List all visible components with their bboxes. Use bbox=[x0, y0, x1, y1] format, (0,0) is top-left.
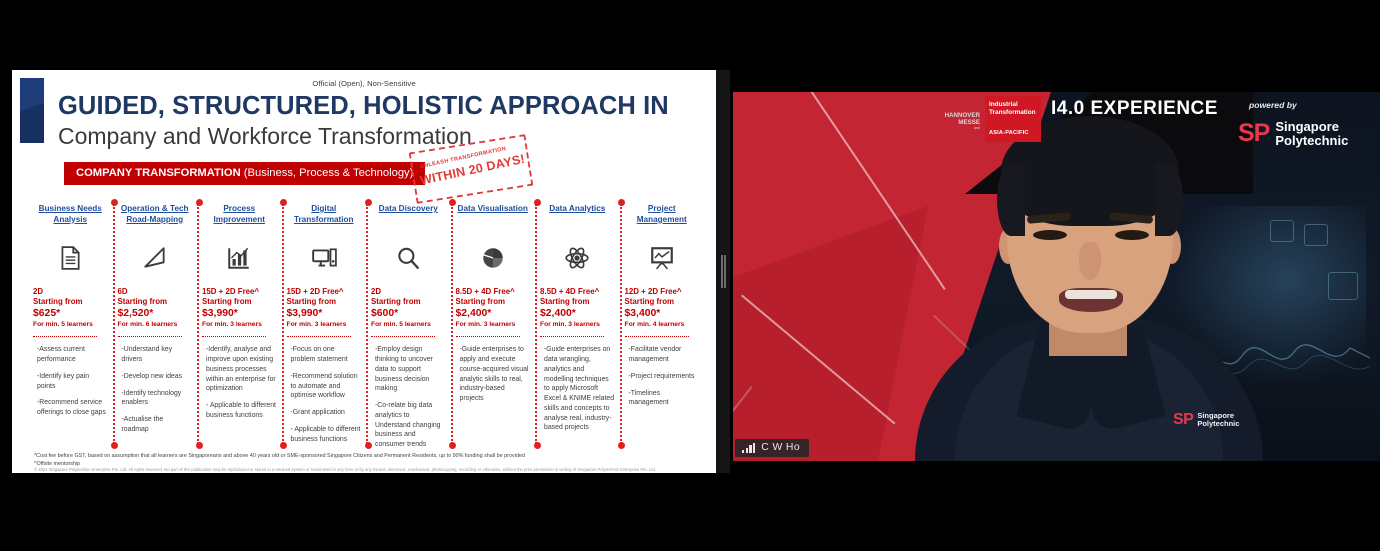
list-item: -Identify technology enablers bbox=[118, 389, 193, 409]
bar-chart-icon bbox=[202, 237, 277, 279]
classification-label: Official (Open), Non-Sensitive bbox=[12, 79, 716, 88]
hannover-tiny: and bbox=[918, 126, 980, 130]
column-min-learners: For min. 3 learners bbox=[202, 321, 277, 330]
service-column: Operation & Tech Road-Mapping 6D Startin… bbox=[113, 204, 198, 444]
list-item: - Applicable to different business funct… bbox=[202, 401, 277, 421]
decor-hex-icon bbox=[1328, 272, 1358, 300]
column-price: $3,990* bbox=[202, 307, 277, 320]
sp-chest-name: Singapore Polytechnic bbox=[1197, 412, 1239, 429]
list-item: -Identify key pain points bbox=[33, 372, 108, 392]
pie-chart-icon bbox=[456, 237, 531, 279]
column-bullets: -Facilitate vendor management-Project re… bbox=[625, 345, 700, 408]
itap-region: ASIA-PACIFIC bbox=[989, 130, 1029, 137]
banner-regular-text: (Business, Process & Technology) bbox=[241, 167, 414, 179]
sp-mark: SP bbox=[1238, 119, 1269, 148]
column-price: $2,520* bbox=[118, 307, 193, 320]
column-starting-from: Starting from bbox=[202, 297, 277, 307]
person-nose bbox=[1079, 242, 1101, 280]
itap-line-2: Transformation bbox=[989, 109, 1037, 117]
column-divider bbox=[456, 336, 520, 337]
column-heading: Process Improvement bbox=[202, 204, 277, 228]
list-item: -Employ design thinking to uncover data … bbox=[371, 345, 446, 394]
rail-dot-bottom bbox=[280, 442, 287, 449]
video-participant-tile[interactable]: HANNOVER MESSE and Industrial Transforma… bbox=[733, 86, 1380, 461]
sp-name: Singapore Polytechnic bbox=[1275, 120, 1348, 147]
participant-name-badge: C W Ho bbox=[735, 439, 809, 457]
service-column: Business Needs Analysis 2D Starting from… bbox=[28, 204, 113, 444]
column-starting-from: Starting from bbox=[118, 297, 193, 307]
column-pricing: 8.5D + 4D Free^ Starting from $2,400* Fo… bbox=[456, 287, 531, 329]
column-pricing: 2D Starting from $625* For min. 5 learne… bbox=[33, 287, 108, 329]
list-item: -Recommend service offerings to close ga… bbox=[33, 398, 108, 418]
sp-name-line-2: Polytechnic bbox=[1275, 133, 1348, 148]
column-min-learners: For min. 5 learners bbox=[371, 321, 446, 330]
service-column: Data Discovery 2D Starting from $600* Fo… bbox=[366, 204, 451, 444]
list-item: -Facilitate vendor management bbox=[625, 345, 700, 365]
column-duration: 8.5D + 4D Free^ bbox=[456, 287, 531, 297]
column-starting-from: Starting from bbox=[371, 297, 446, 307]
service-column: Digital Transformation 15D + 2D Free^ St… bbox=[282, 204, 367, 444]
person-teeth bbox=[1065, 290, 1117, 299]
column-duration: 12D + 2D Free^ bbox=[625, 287, 700, 297]
slide-footnote: *Cost fee before GST, based on assumptio… bbox=[34, 452, 706, 468]
column-separator-rail bbox=[535, 204, 537, 444]
column-duration: 15D + 2D Free^ bbox=[287, 287, 362, 297]
column-divider bbox=[371, 336, 435, 337]
column-price: $625* bbox=[33, 307, 108, 320]
rail-dot-top bbox=[196, 199, 203, 206]
list-item: -Identify, analyse and improve upon exis… bbox=[202, 345, 277, 394]
list-item: -Timelines management bbox=[625, 389, 700, 409]
atom-icon bbox=[540, 237, 615, 279]
decor-hex-icon bbox=[1304, 224, 1328, 246]
column-heading: Data Discovery bbox=[371, 204, 446, 228]
column-divider bbox=[202, 336, 266, 337]
panel-resize-handle[interactable] bbox=[716, 70, 730, 473]
person-hair-right bbox=[1155, 164, 1183, 236]
column-pricing: 8.5D + 4D Free^ Starting from $2,400* Fo… bbox=[540, 287, 615, 329]
grip-icon bbox=[720, 255, 726, 288]
participant-name-label: C W Ho bbox=[761, 442, 800, 453]
banner-top-edge bbox=[733, 86, 1380, 92]
rail-dot-bottom bbox=[196, 442, 203, 449]
column-bullets: -Employ design thinking to uncover data … bbox=[371, 345, 446, 450]
sp-chest-logo: SP Singapore Polytechnic bbox=[1173, 411, 1239, 429]
column-duration: 2D bbox=[33, 287, 108, 297]
rail-dot-top bbox=[534, 199, 541, 206]
column-starting-from: Starting from bbox=[33, 297, 108, 307]
column-min-learners: For min. 3 learners bbox=[287, 321, 362, 330]
column-duration: 2D bbox=[371, 287, 446, 297]
powered-by-label: powered by bbox=[1249, 100, 1297, 110]
column-separator-rail bbox=[451, 204, 453, 444]
rail-dot-bottom bbox=[111, 442, 118, 449]
column-pricing: 12D + 2D Free^ Starting from $3,400* For… bbox=[625, 287, 700, 329]
column-bullets: -Assess current performance-Identify key… bbox=[33, 345, 108, 418]
rail-dot-top bbox=[449, 199, 456, 206]
person-eye-left bbox=[1033, 230, 1067, 240]
paper-plane-icon bbox=[118, 237, 193, 279]
column-separator-rail bbox=[113, 204, 115, 444]
column-divider bbox=[33, 336, 97, 337]
list-item: -Assess current performance bbox=[33, 345, 108, 365]
decor-hex-icon bbox=[1270, 220, 1294, 242]
slide-title-sub: Company and Workforce Transformation bbox=[58, 123, 472, 150]
service-column: Project Management 12D + 2D Free^ Starti… bbox=[620, 204, 705, 444]
column-duration: 8.5D + 4D Free^ bbox=[540, 287, 615, 297]
slide-title-main: GUIDED, STRUCTURED, HOLISTIC APPROACH IN bbox=[58, 92, 669, 121]
list-item: -Grant application bbox=[287, 408, 362, 418]
column-bullets: -Identify, analyse and improve upon exis… bbox=[202, 345, 277, 421]
list-item: -Guide enterprises on data wrangling, an… bbox=[540, 345, 615, 433]
signal-bars-icon bbox=[742, 443, 755, 453]
presentation-board-icon bbox=[625, 237, 700, 279]
column-price: $600* bbox=[371, 307, 446, 320]
service-column: Data Visualisation 8.5D + 4D Free^ Start… bbox=[451, 204, 536, 444]
column-pricing: 15D + 2D Free^ Starting from $3,990* For… bbox=[287, 287, 362, 329]
rail-dot-top bbox=[111, 199, 118, 206]
column-price: $2,400* bbox=[456, 307, 531, 320]
magnifier-icon bbox=[371, 237, 446, 279]
column-bullets: -Understand key drivers-Develop new idea… bbox=[118, 345, 193, 435]
service-columns: Business Needs Analysis 2D Starting from… bbox=[28, 204, 704, 444]
column-separator-rail bbox=[366, 204, 368, 444]
footnote-line-1: *Cost fee before GST, based on assumptio… bbox=[34, 452, 706, 460]
column-separator-rail bbox=[620, 204, 622, 444]
sp-banner-logo: SP Singapore Polytechnic bbox=[1238, 119, 1348, 148]
hannover-messe-logo: HANNOVER MESSE and bbox=[918, 112, 980, 130]
itap-line-1: Industrial bbox=[989, 101, 1037, 109]
event-title: I4.0 EXPERIENCE bbox=[1051, 98, 1218, 120]
column-pricing: 15D + 2D Free^ Starting from $3,990* For… bbox=[202, 287, 277, 329]
hannover-line-1: HANNOVER bbox=[918, 112, 980, 119]
rail-dot-bottom bbox=[365, 442, 372, 449]
screen: Official (Open), Non-Sensitive GUIDED, S… bbox=[0, 0, 1380, 551]
slide-copyright: © 2021 Singapore Polytechnic Enterprise … bbox=[34, 467, 706, 473]
list-item: -Focus on one problem statement bbox=[287, 345, 362, 365]
column-pricing: 2D Starting from $600* For min. 5 learne… bbox=[371, 287, 446, 329]
rail-dot-top bbox=[618, 199, 625, 206]
column-starting-from: Starting from bbox=[540, 297, 615, 307]
column-min-learners: For min. 6 learners bbox=[118, 321, 193, 330]
rail-dot-bottom bbox=[449, 442, 456, 449]
rail-dot-bottom bbox=[534, 442, 541, 449]
person-eye-right bbox=[1115, 230, 1149, 240]
list-item: -Develop new ideas bbox=[118, 372, 193, 382]
column-heading: Business Needs Analysis bbox=[33, 204, 108, 228]
rail-dot-top bbox=[365, 199, 372, 206]
service-column: Process Improvement 15D + 2D Free^ Start… bbox=[197, 204, 282, 444]
column-min-learners: For min. 3 learners bbox=[456, 321, 531, 330]
list-item: -Co-relate big data analytics to Underst… bbox=[371, 401, 446, 450]
column-min-learners: For min. 4 learners bbox=[625, 321, 700, 330]
desktop-computer-icon bbox=[287, 237, 362, 279]
rail-dot-bottom bbox=[618, 442, 625, 449]
hannover-line-2: MESSE bbox=[918, 119, 980, 126]
column-min-learners: For min. 5 learners bbox=[33, 321, 108, 330]
column-bullets: -Guide enterprises to apply and execute … bbox=[456, 345, 531, 404]
column-heading: Data Analytics bbox=[540, 204, 615, 228]
shared-slide-panel[interactable]: Official (Open), Non-Sensitive GUIDED, S… bbox=[12, 70, 716, 473]
column-heading: Data Visualisation bbox=[456, 204, 531, 228]
column-separator-rail bbox=[197, 204, 199, 444]
sp-chest-line-2: Polytechnic bbox=[1197, 419, 1239, 428]
column-divider bbox=[540, 336, 604, 337]
person-hair-left bbox=[997, 164, 1025, 236]
list-item: -Understand key drivers bbox=[118, 345, 193, 365]
company-transformation-banner: COMPANY TRANSFORMATION (Business, Proces… bbox=[64, 162, 425, 185]
column-price: $3,400* bbox=[625, 307, 700, 320]
column-heading: Operation & Tech Road-Mapping bbox=[118, 204, 193, 228]
rail-dot-top bbox=[280, 199, 287, 206]
column-price: $3,990* bbox=[287, 307, 362, 320]
column-divider bbox=[287, 336, 351, 337]
document-icon bbox=[33, 237, 108, 279]
itap-logo: Industrial Transformation ASIA-PACIFIC bbox=[985, 96, 1041, 142]
column-duration: 15D + 2D Free^ bbox=[202, 287, 277, 297]
column-divider bbox=[625, 336, 689, 337]
service-column: Data Analytics 8.5D + 4D Free^ Starting … bbox=[535, 204, 620, 444]
list-item: - Applicable to different business funct… bbox=[287, 425, 362, 445]
list-item: -Guide enterprises to apply and execute … bbox=[456, 345, 531, 404]
column-divider bbox=[118, 336, 182, 337]
column-heading: Project Management bbox=[625, 204, 700, 228]
column-starting-from: Starting from bbox=[625, 297, 700, 307]
column-bullets: -Guide enterprises on data wrangling, an… bbox=[540, 345, 615, 433]
sp-chest-mark: SP bbox=[1173, 411, 1193, 429]
column-heading: Digital Transformation bbox=[287, 204, 362, 228]
column-starting-from: Starting from bbox=[287, 297, 362, 307]
list-item: -Project requirements bbox=[625, 372, 700, 382]
list-item: -Actualise the roadmap bbox=[118, 415, 193, 435]
column-bullets: -Focus on one problem statement-Recommen… bbox=[287, 345, 362, 444]
list-item: -Recommend solution to automate and opti… bbox=[287, 372, 362, 401]
column-duration: 6D bbox=[118, 287, 193, 297]
column-min-learners: For min. 3 learners bbox=[540, 321, 615, 330]
column-price: $2,400* bbox=[540, 307, 615, 320]
banner-bold-text: COMPANY TRANSFORMATION bbox=[76, 167, 241, 179]
column-separator-rail bbox=[282, 204, 284, 444]
column-starting-from: Starting from bbox=[456, 297, 531, 307]
column-pricing: 6D Starting from $2,520* For min. 6 lear… bbox=[118, 287, 193, 329]
